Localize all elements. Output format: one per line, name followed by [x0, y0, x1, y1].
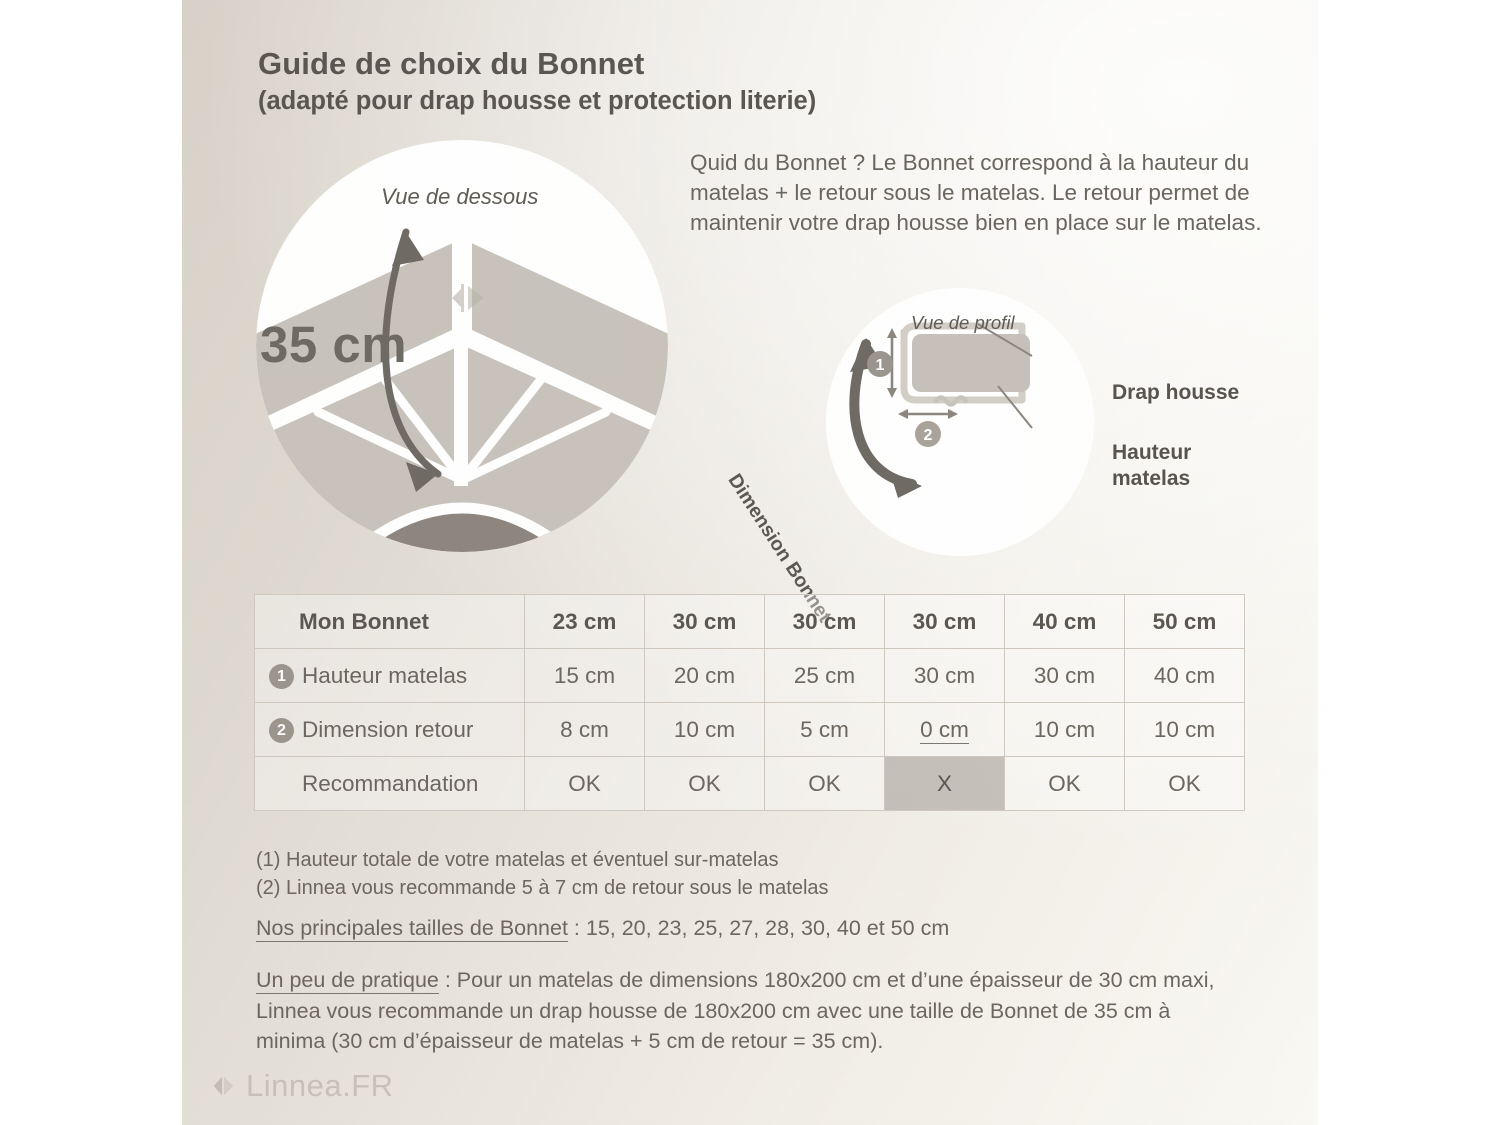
table-cell: 0 cm: [885, 703, 1005, 757]
table-row: 2Dimension retour8 cm10 cm5 cm0 cm10 cm1…: [255, 703, 1245, 757]
table-cell: 10 cm: [1005, 703, 1125, 757]
table-row-label: Recommandation: [255, 757, 525, 811]
title-line-2: (adapté pour drap housse et protection l…: [258, 85, 816, 118]
table-header-cell-0: Mon Bonnet: [255, 595, 525, 649]
table-header-cell-4: 30 cm: [885, 595, 1005, 649]
table-cell: 8 cm: [525, 703, 645, 757]
table-cell: OK: [645, 757, 765, 811]
callout-hauteur-line2: matelas: [1112, 466, 1191, 492]
table-cell: 30 cm: [885, 649, 1005, 703]
table-cell: 10 cm: [1125, 703, 1245, 757]
table-cell: X: [885, 757, 1005, 811]
table-cell: 5 cm: [765, 703, 885, 757]
table-row-label-text: Recommandation: [302, 771, 478, 796]
table-cell: OK: [765, 757, 885, 811]
linnea-wordmark: Linnea.FR: [246, 1068, 394, 1104]
table-cell: 20 cm: [645, 649, 765, 703]
sizes-value: : 15, 20, 23, 25, 27, 28, 30, 40 et 50 c…: [568, 916, 949, 940]
callout-hauteur-matelas: Hauteur matelas: [1112, 440, 1191, 491]
table-row-label: 2Dimension retour: [255, 703, 525, 757]
table-row-label-text: Dimension retour: [302, 717, 473, 742]
table-header-cell-5: 40 cm: [1005, 595, 1125, 649]
table-cell: 10 cm: [645, 703, 765, 757]
table-header-cell-1: 23 cm: [525, 595, 645, 649]
table-cell-underlined-value: 0 cm: [920, 717, 969, 744]
table-header-row: Mon Bonnet 23 cm 30 cm 30 cm 30 cm 40 cm…: [255, 595, 1245, 649]
table-cell: 25 cm: [765, 649, 885, 703]
bottom-view-label: Vue de dessous: [381, 184, 538, 210]
table-header: Mon Bonnet 23 cm 30 cm 30 cm 30 cm 40 cm…: [255, 595, 1245, 649]
svg-text:2: 2: [924, 427, 933, 444]
diagram-profile-view: 1 2 Vue de profil: [826, 288, 1094, 556]
callout-hauteur-line1: Hauteur: [1112, 440, 1191, 466]
diagram-bottom-view: Vue de dessous 35 cm: [256, 140, 668, 552]
table-row: RecommandationOKOKOKXOKOK: [255, 757, 1245, 811]
practical-example: Un peu de pratique : Pour un matelas de …: [256, 965, 1236, 1057]
poster-canvas: Guide de choix du Bonnet (adapté pour dr…: [182, 0, 1318, 1125]
linnea-diamond-icon: [210, 1073, 236, 1099]
table-header-cell-2: 30 cm: [645, 595, 765, 649]
table-cell: OK: [525, 757, 645, 811]
sizes-line: Nos principales tailles de Bonnet : 15, …: [256, 916, 949, 941]
table-cell: 15 cm: [525, 649, 645, 703]
table-row-label-text: Hauteur matelas: [302, 663, 467, 688]
table-row-label: 1Hauteur matelas: [255, 649, 525, 703]
svg-text:1: 1: [876, 357, 885, 374]
table-header-cell-6: 50 cm: [1125, 595, 1245, 649]
bonnet-table: Mon Bonnet 23 cm 30 cm 30 cm 30 cm 40 cm…: [254, 594, 1244, 811]
bonnet-size-table: Mon Bonnet 23 cm 30 cm 30 cm 30 cm 40 cm…: [254, 594, 1245, 811]
sizes-label: Nos principales tailles de Bonnet: [256, 916, 568, 942]
intro-paragraph: Quid du Bonnet ? Le Bonnet correspond à …: [690, 148, 1270, 238]
row-badge-icon: 2: [269, 718, 294, 743]
footnote-2: (2) Linnea vous recommande 5 à 7 cm de r…: [256, 874, 829, 902]
practical-label: Un peu de pratique: [256, 968, 439, 994]
profile-view-label: Vue de profil: [911, 312, 1015, 334]
page-title: Guide de choix du Bonnet (adapté pour dr…: [258, 46, 816, 118]
callout-drap-housse: Drap housse: [1112, 380, 1239, 406]
table-header-cell-3: 30 cm: [765, 595, 885, 649]
measure-35cm-label: 35 cm: [260, 315, 407, 374]
table-cell: 30 cm: [1005, 649, 1125, 703]
footnotes: (1) Hauteur totale de votre matelas et é…: [256, 846, 829, 903]
row-badge-icon: 1: [269, 664, 294, 689]
footnote-1: (1) Hauteur totale de votre matelas et é…: [256, 846, 829, 874]
title-line-1: Guide de choix du Bonnet: [258, 46, 816, 83]
table-row: 1Hauteur matelas15 cm20 cm25 cm30 cm30 c…: [255, 649, 1245, 703]
table-body: 1Hauteur matelas15 cm20 cm25 cm30 cm30 c…: [255, 649, 1245, 811]
table-cell: OK: [1005, 757, 1125, 811]
table-cell: OK: [1125, 757, 1245, 811]
linnea-logo[interactable]: Linnea.FR: [210, 1068, 394, 1104]
table-cell: 40 cm: [1125, 649, 1245, 703]
